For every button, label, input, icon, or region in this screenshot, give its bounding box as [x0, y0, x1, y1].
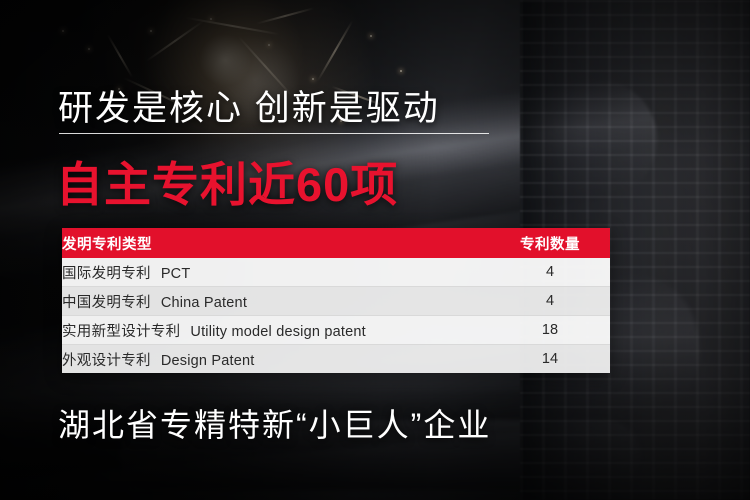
cell-patent-type: 外观设计专利Design Patent [62, 345, 490, 374]
cell-patent-count: 4 [490, 258, 610, 287]
patent-type-cn: 中国发明专利 [62, 295, 151, 311]
cell-patent-count: 4 [490, 287, 610, 316]
subtitle: 自主专利近60项 [56, 146, 398, 215]
table-header: 发明专利类型 专利数量 [62, 228, 610, 258]
patent-type-en: Utility model design patent [190, 324, 365, 340]
page-title: 研发是核心 创新是驱动 [58, 80, 440, 131]
table-row: 实用新型设计专利Utility model design patent 18 [62, 316, 610, 345]
cell-patent-type: 国际发明专利PCT [62, 258, 490, 287]
cell-patent-type: 中国发明专利China Patent [62, 287, 490, 316]
patent-type-cn: 外观设计专利 [62, 353, 151, 369]
patent-type-cn: 国际发明专利 [62, 266, 151, 282]
footer-caption: 湖北省专精特新“小巨人”企业 [58, 400, 491, 446]
patent-table: 发明专利类型 专利数量 国际发明专利PCT 4 中国发明专利China Pate… [62, 228, 610, 373]
cell-patent-count: 18 [490, 316, 610, 345]
table-row: 国际发明专利PCT 4 [62, 258, 610, 287]
patent-type-en: Design Patent [161, 353, 255, 369]
table-row: 中国发明专利China Patent 4 [62, 287, 610, 316]
table-row: 外观设计专利Design Patent 14 [62, 345, 610, 374]
title-divider [59, 133, 489, 134]
promo-banner: 研发是核心 创新是驱动 自主专利近60项 发明专利类型 专利数量 国际发明专利P… [0, 0, 750, 500]
cell-patent-type: 实用新型设计专利Utility model design patent [62, 316, 490, 345]
table-body: 国际发明专利PCT 4 中国发明专利China Patent 4 实用新型设计专… [62, 258, 610, 373]
patent-type-cn: 实用新型设计专利 [62, 324, 180, 340]
header-patent-count: 专利数量 [490, 228, 610, 258]
header-patent-type: 发明专利类型 [62, 228, 490, 258]
cell-patent-count: 14 [490, 345, 610, 374]
patent-type-en: China Patent [161, 295, 247, 311]
patent-table-container: 发明专利类型 专利数量 国际发明专利PCT 4 中国发明专利China Pate… [62, 228, 610, 373]
table-header-row: 发明专利类型 专利数量 [62, 228, 610, 258]
patent-type-en: PCT [161, 266, 191, 282]
